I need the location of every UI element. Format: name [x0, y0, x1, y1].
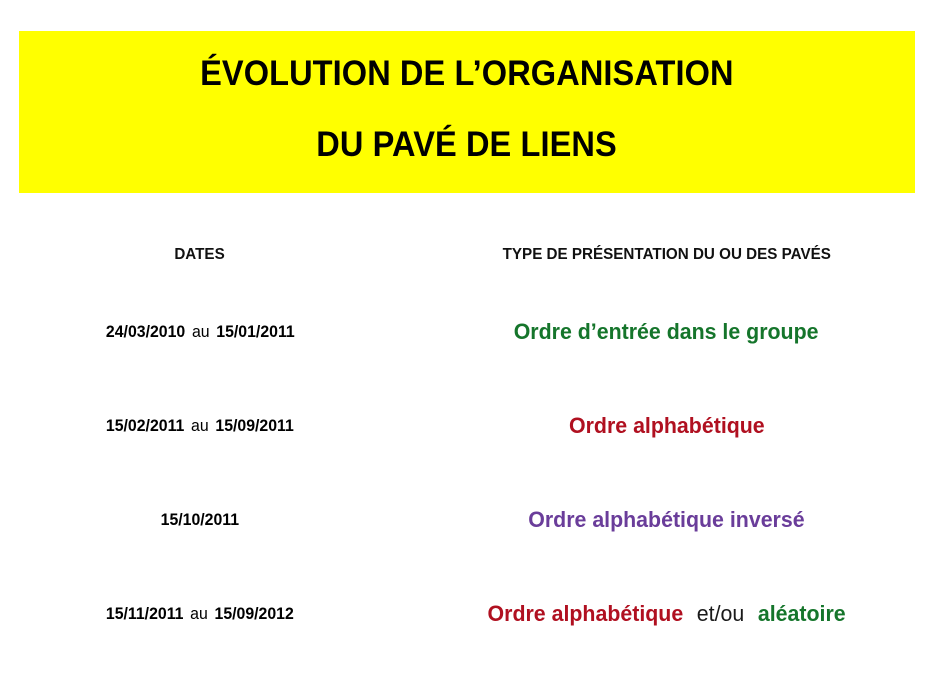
- table-header-row: DATES TYPE DE PRÉSENTATION DU OU DES PAV…: [0, 225, 933, 285]
- evolution-table: DATES TYPE DE PRÉSENTATION DU OU DES PAV…: [0, 225, 933, 661]
- column-header-dates: DATES: [175, 246, 225, 264]
- date-cell-wrapper: 24/03/2010au15/01/2011: [0, 323, 400, 342]
- slide-title-line-2: DU PAVÉ DE LIENS: [317, 127, 618, 162]
- column-header-type: TYPE DE PRÉSENTATION DU OU DES PAVÉS: [502, 246, 830, 264]
- date-end-1: 15/09/2011: [216, 417, 294, 435]
- type-value-2: Ordre alphabétique inversé: [528, 507, 804, 533]
- column-header-dates-cell: DATES: [0, 246, 400, 264]
- type-cell-wrapper: Ordre alphabétique inversé: [400, 507, 933, 533]
- type-cell-wrapper: Ordre d’entrée dans le groupe: [400, 319, 933, 345]
- type-segment: aléatoire: [758, 601, 846, 626]
- type-cell-wrapper: Ordre alphabétiqueet/oualéatoire: [400, 601, 933, 627]
- date-cell-wrapper: 15/10/2011: [0, 511, 400, 530]
- date-separator-0: au: [192, 323, 210, 341]
- date-start-2: 15/10/2011: [161, 511, 239, 529]
- slide-canvas: ÉVOLUTION DE L’ORGANISATION DU PAVÉ DE L…: [0, 0, 933, 700]
- date-cell-wrapper: 15/11/2011au15/09/2012: [0, 605, 400, 624]
- date-start-1: 15/02/2011: [106, 417, 184, 435]
- title-banner: ÉVOLUTION DE L’ORGANISATION DU PAVÉ DE L…: [19, 31, 915, 193]
- date-start-3: 15/11/2011: [106, 605, 184, 623]
- date-end-3: 15/09/2012: [215, 605, 294, 623]
- date-start-0: 24/03/2010: [106, 323, 185, 341]
- date-range-0: 24/03/2010au15/01/2011: [106, 323, 295, 342]
- type-segment: Ordre alphabétique: [569, 413, 765, 438]
- table-row: 24/03/2010au15/01/2011 Ordre d’entrée da…: [0, 285, 933, 379]
- date-separator-3: au: [190, 605, 208, 623]
- date-cell-wrapper: 15/02/2011au15/09/2011: [0, 417, 400, 436]
- date-end-0: 15/01/2011: [216, 323, 294, 341]
- type-segment: Ordre alphabétique inversé: [528, 507, 804, 532]
- type-value-1: Ordre alphabétique: [569, 413, 765, 439]
- type-segment: Ordre alphabétique: [487, 601, 683, 626]
- date-range-3: 15/11/2011au15/09/2012: [106, 605, 294, 624]
- type-cell-wrapper: Ordre alphabétique: [400, 413, 933, 439]
- slide-title-line-1: ÉVOLUTION DE L’ORGANISATION: [200, 56, 734, 91]
- date-separator-1: au: [191, 417, 209, 435]
- column-header-type-cell: TYPE DE PRÉSENTATION DU OU DES PAVÉS: [400, 246, 933, 264]
- type-segment: et/ou: [697, 601, 744, 626]
- type-value-0: Ordre d’entrée dans le groupe: [514, 319, 819, 345]
- date-range-2: 15/10/2011: [161, 511, 239, 530]
- table-row: 15/11/2011au15/09/2012 Ordre alphabétiqu…: [0, 567, 933, 661]
- type-segment: Ordre d’entrée dans le groupe: [514, 319, 819, 344]
- table-row: 15/02/2011au15/09/2011 Ordre alphabétiqu…: [0, 379, 933, 473]
- table-row: 15/10/2011 Ordre alphabétique inversé: [0, 473, 933, 567]
- type-value-3: Ordre alphabétiqueet/oualéatoire: [487, 601, 845, 627]
- date-range-1: 15/02/2011au15/09/2011: [106, 417, 294, 436]
